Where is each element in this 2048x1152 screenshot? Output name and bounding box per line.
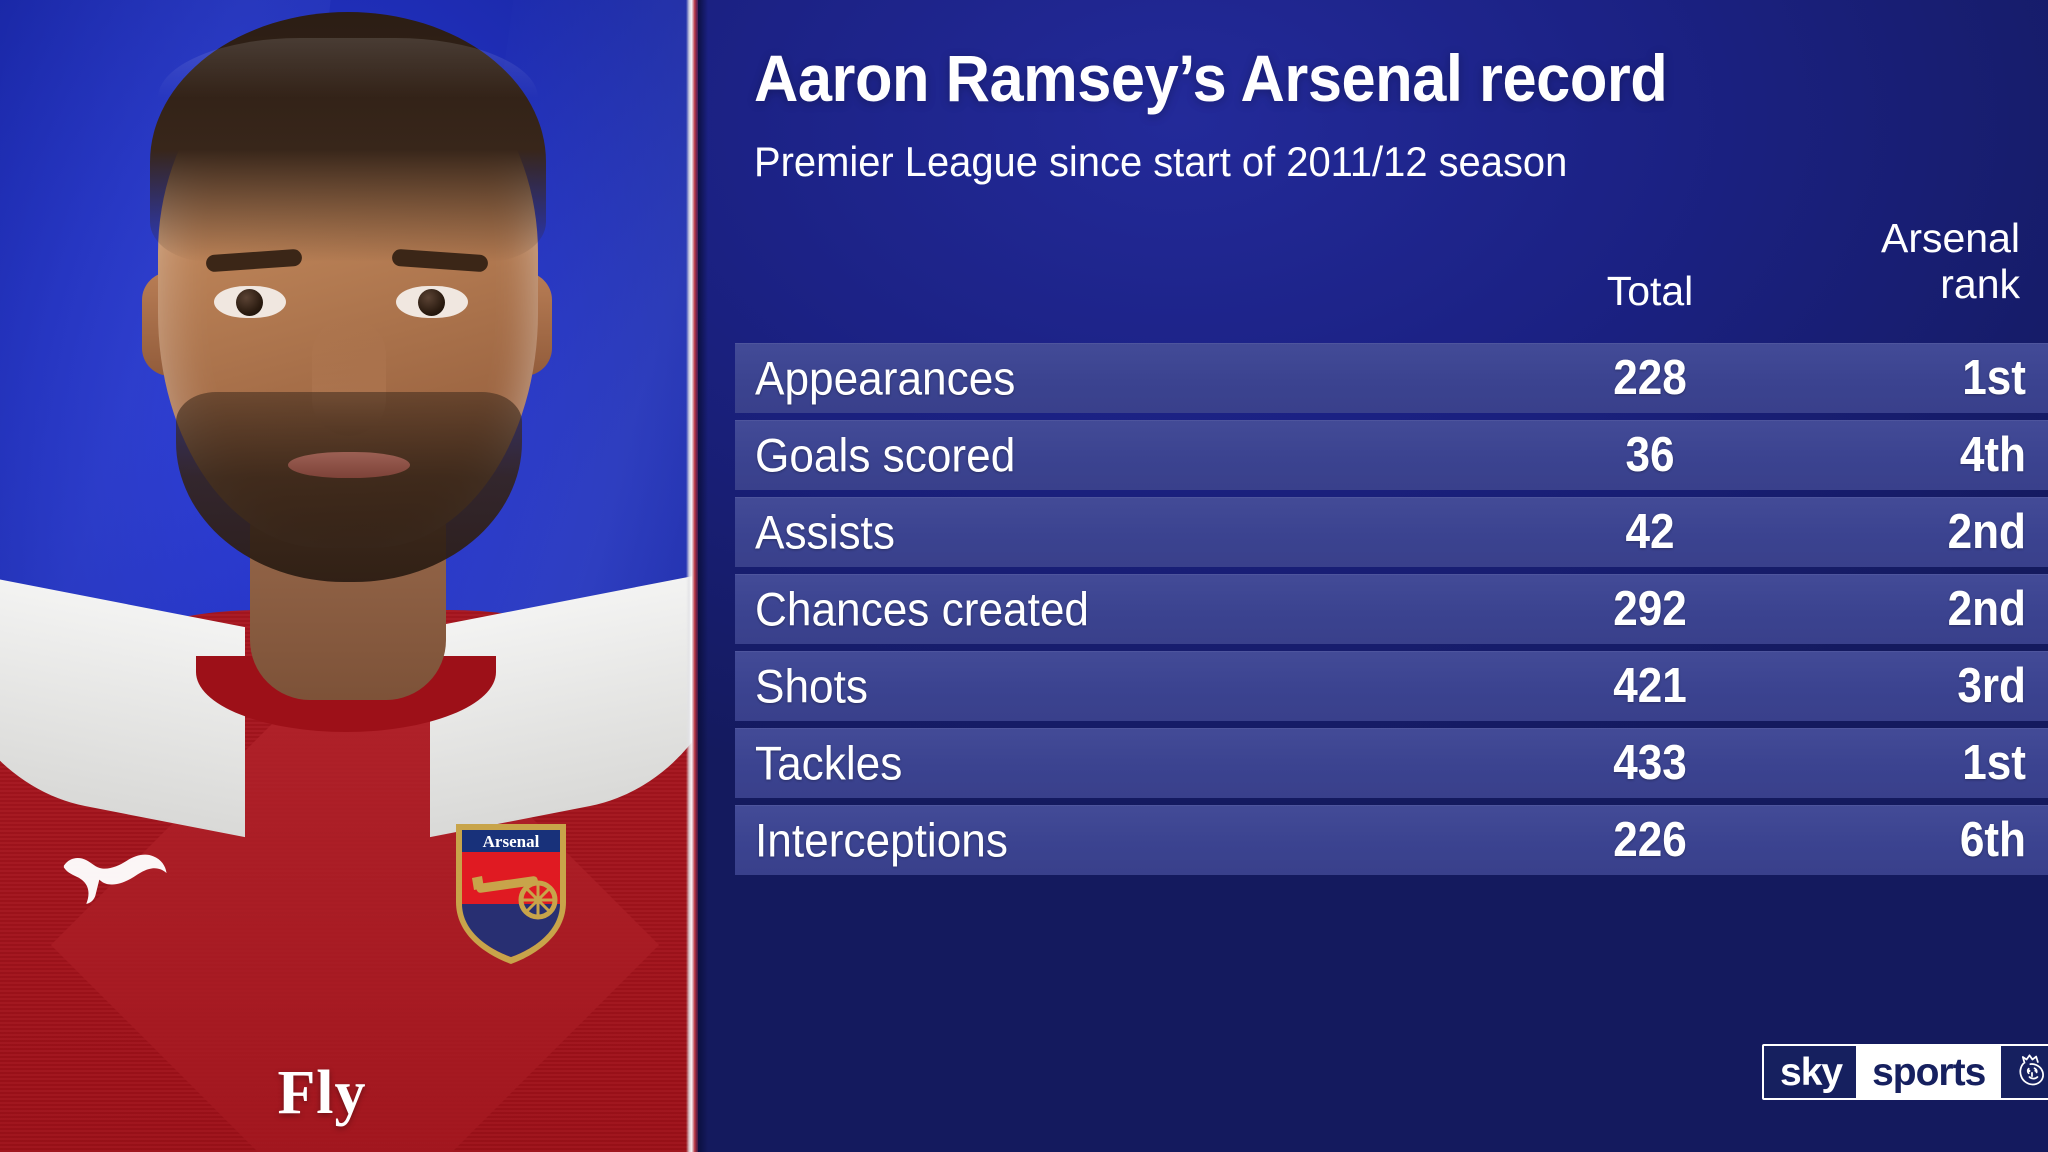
stat-rank: 4th (1819, 427, 2026, 483)
lips (288, 452, 410, 478)
page-title: Aaron Ramsey’s Arsenal record (754, 44, 1667, 113)
stat-total: 292 (1569, 581, 1731, 637)
arsenal-crest-icon: Arsenal (452, 818, 570, 968)
column-header-rank-line2: rank (1828, 262, 2020, 308)
stat-label: Appearances (755, 351, 1015, 406)
stat-total: 421 (1569, 658, 1731, 714)
stats-table: Appearances2281stGoals scored364thAssist… (735, 343, 2048, 882)
stat-total: 228 (1569, 350, 1731, 406)
page-subtitle: Premier League since start of 2011/12 se… (754, 140, 1567, 184)
stat-total: 226 (1569, 812, 1731, 868)
stat-rank: 1st (1819, 350, 2026, 406)
player-figure: Arsenal Fly (0, 0, 692, 1152)
sky-wordmark: sky (1764, 1046, 1856, 1098)
table-row: Tackles4331st (735, 728, 2048, 798)
eye-left (214, 286, 286, 318)
table-row: Appearances2281st (735, 343, 2048, 413)
stat-label: Shots (755, 659, 868, 714)
stat-label: Tackles (755, 736, 902, 791)
column-header-rank-line1: Arsenal (1828, 216, 2020, 262)
svg-text:Arsenal: Arsenal (483, 832, 540, 851)
stat-label: Goals scored (755, 428, 1015, 483)
stat-rank: 2nd (1819, 581, 2026, 637)
panel-divider-shadow (698, 0, 708, 1152)
table-row: Shots4213rd (735, 651, 2048, 721)
stat-total: 36 (1569, 427, 1731, 483)
stat-label: Interceptions (755, 813, 1008, 868)
table-row: Chances created2922nd (735, 574, 2048, 644)
stat-label: Assists (755, 505, 895, 560)
hair (150, 12, 546, 262)
beard (176, 392, 522, 582)
player-photo: Arsenal Fly (0, 0, 692, 1152)
stat-label: Chances created (755, 582, 1089, 637)
sports-wordmark: sports (1856, 1046, 2001, 1098)
premier-league-lion-icon (2001, 1046, 2048, 1098)
column-header-total: Total (1560, 268, 1740, 315)
stat-rank: 2nd (1819, 504, 2026, 560)
column-header-rank: Arsenal rank (1828, 216, 2038, 308)
eye-right (396, 286, 468, 318)
stat-rank: 3rd (1819, 658, 2026, 714)
kit-sponsor-text: Fly (182, 1058, 462, 1129)
stat-total: 433 (1569, 735, 1731, 791)
stat-rank: 6th (1819, 812, 2026, 868)
graphic-stage: Arsenal Fly Aaron Ramsey’s Ar (0, 0, 2048, 1152)
stat-rank: 1st (1819, 735, 2026, 791)
table-row: Interceptions2266th (735, 805, 2048, 875)
stat-total: 42 (1569, 504, 1731, 560)
puma-logo-icon (62, 845, 174, 905)
table-row: Goals scored364th (735, 420, 2048, 490)
sky-sports-logo: sky sports (1762, 1044, 2048, 1100)
table-row: Assists422nd (735, 497, 2048, 567)
